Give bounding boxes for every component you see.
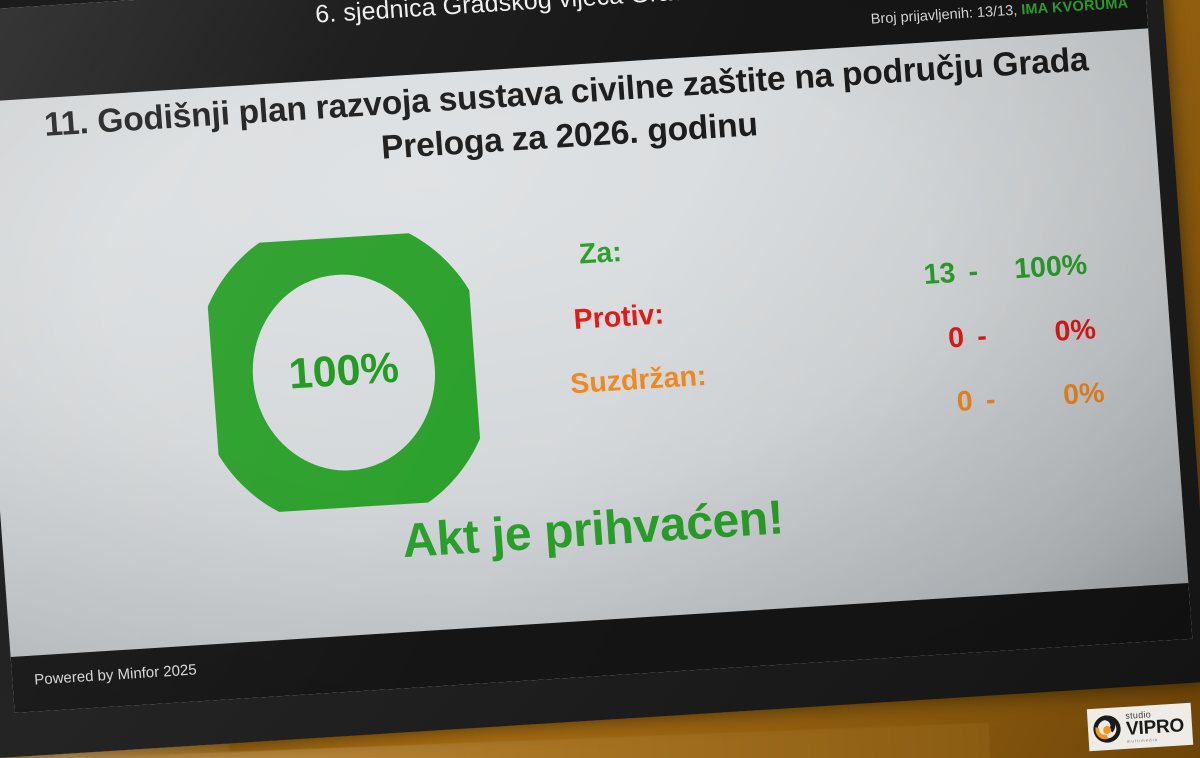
vote-labels-column: Za: Protiv: Suzdržan: — [560, 223, 873, 435]
vote-label-za: Za: — [578, 223, 862, 269]
vote-count-protiv: 0 — [879, 323, 973, 357]
vote-label-suzdrzan: Suzdržan: — [569, 352, 870, 399]
vote-count-za: 13 — [870, 259, 964, 293]
projection-display: 6. sjednica Gradskog vijeća Grada Prelog… — [0, 0, 1200, 758]
watermark-brand-text: VIPRO — [1126, 716, 1185, 739]
vote-donut-chart: 100% — [203, 230, 484, 516]
watermark-tagline-text: multimedia — [1127, 736, 1185, 744]
vote-numbers-column: 13 - 100% 0 - 0% 0 - 0% — [847, 251, 1101, 459]
vote-row-suzdrzan: 0 - 0% — [856, 379, 1106, 423]
vote-count-suzdrzan: 0 — [888, 387, 982, 421]
vote-row-protiv: 0 - 0% — [851, 315, 1097, 359]
quorum-status-badge: IMA KVORUMA — [1021, 0, 1129, 18]
display-screen: 6. sjednica Gradskog vijeća Grada Prelog… — [0, 0, 1192, 713]
vote-row-za: 13 - 100% — [847, 251, 1089, 294]
vote-dash-suzdrzan: - — [980, 385, 1002, 415]
slide-body: 11. Godišnji plan razvoja sustava civiln… — [0, 28, 1188, 657]
vipro-aperture-icon — [1091, 713, 1123, 745]
quorum-count: 13/13, — [976, 3, 1017, 21]
vote-label-protiv: Protiv: — [573, 287, 866, 334]
video-watermark: studio VIPRO multimedia — [1087, 703, 1193, 751]
photo-scene: 6. sjednica Gradskog vijeća Grada Prelog… — [0, 0, 1200, 758]
vote-dash-protiv: - — [971, 321, 993, 351]
vote-result-banner: Akt je prihvaćen! — [2, 465, 1184, 594]
vote-dash-za: - — [962, 257, 984, 287]
vote-percent-suzdrzan: 0% — [1000, 379, 1106, 414]
quorum-info: Broj prijavljenih: 13/13, IMA KVORUMA — [870, 0, 1129, 28]
vote-percent-protiv: 0% — [991, 315, 1097, 350]
vipro-wordmark: studio VIPRO multimedia — [1125, 708, 1185, 744]
vote-percent-za: 100% — [982, 251, 1088, 286]
quorum-label: Broj prijavljenih: — [870, 5, 973, 27]
powered-by-label: Powered by Minfor 2025 — [34, 661, 198, 688]
